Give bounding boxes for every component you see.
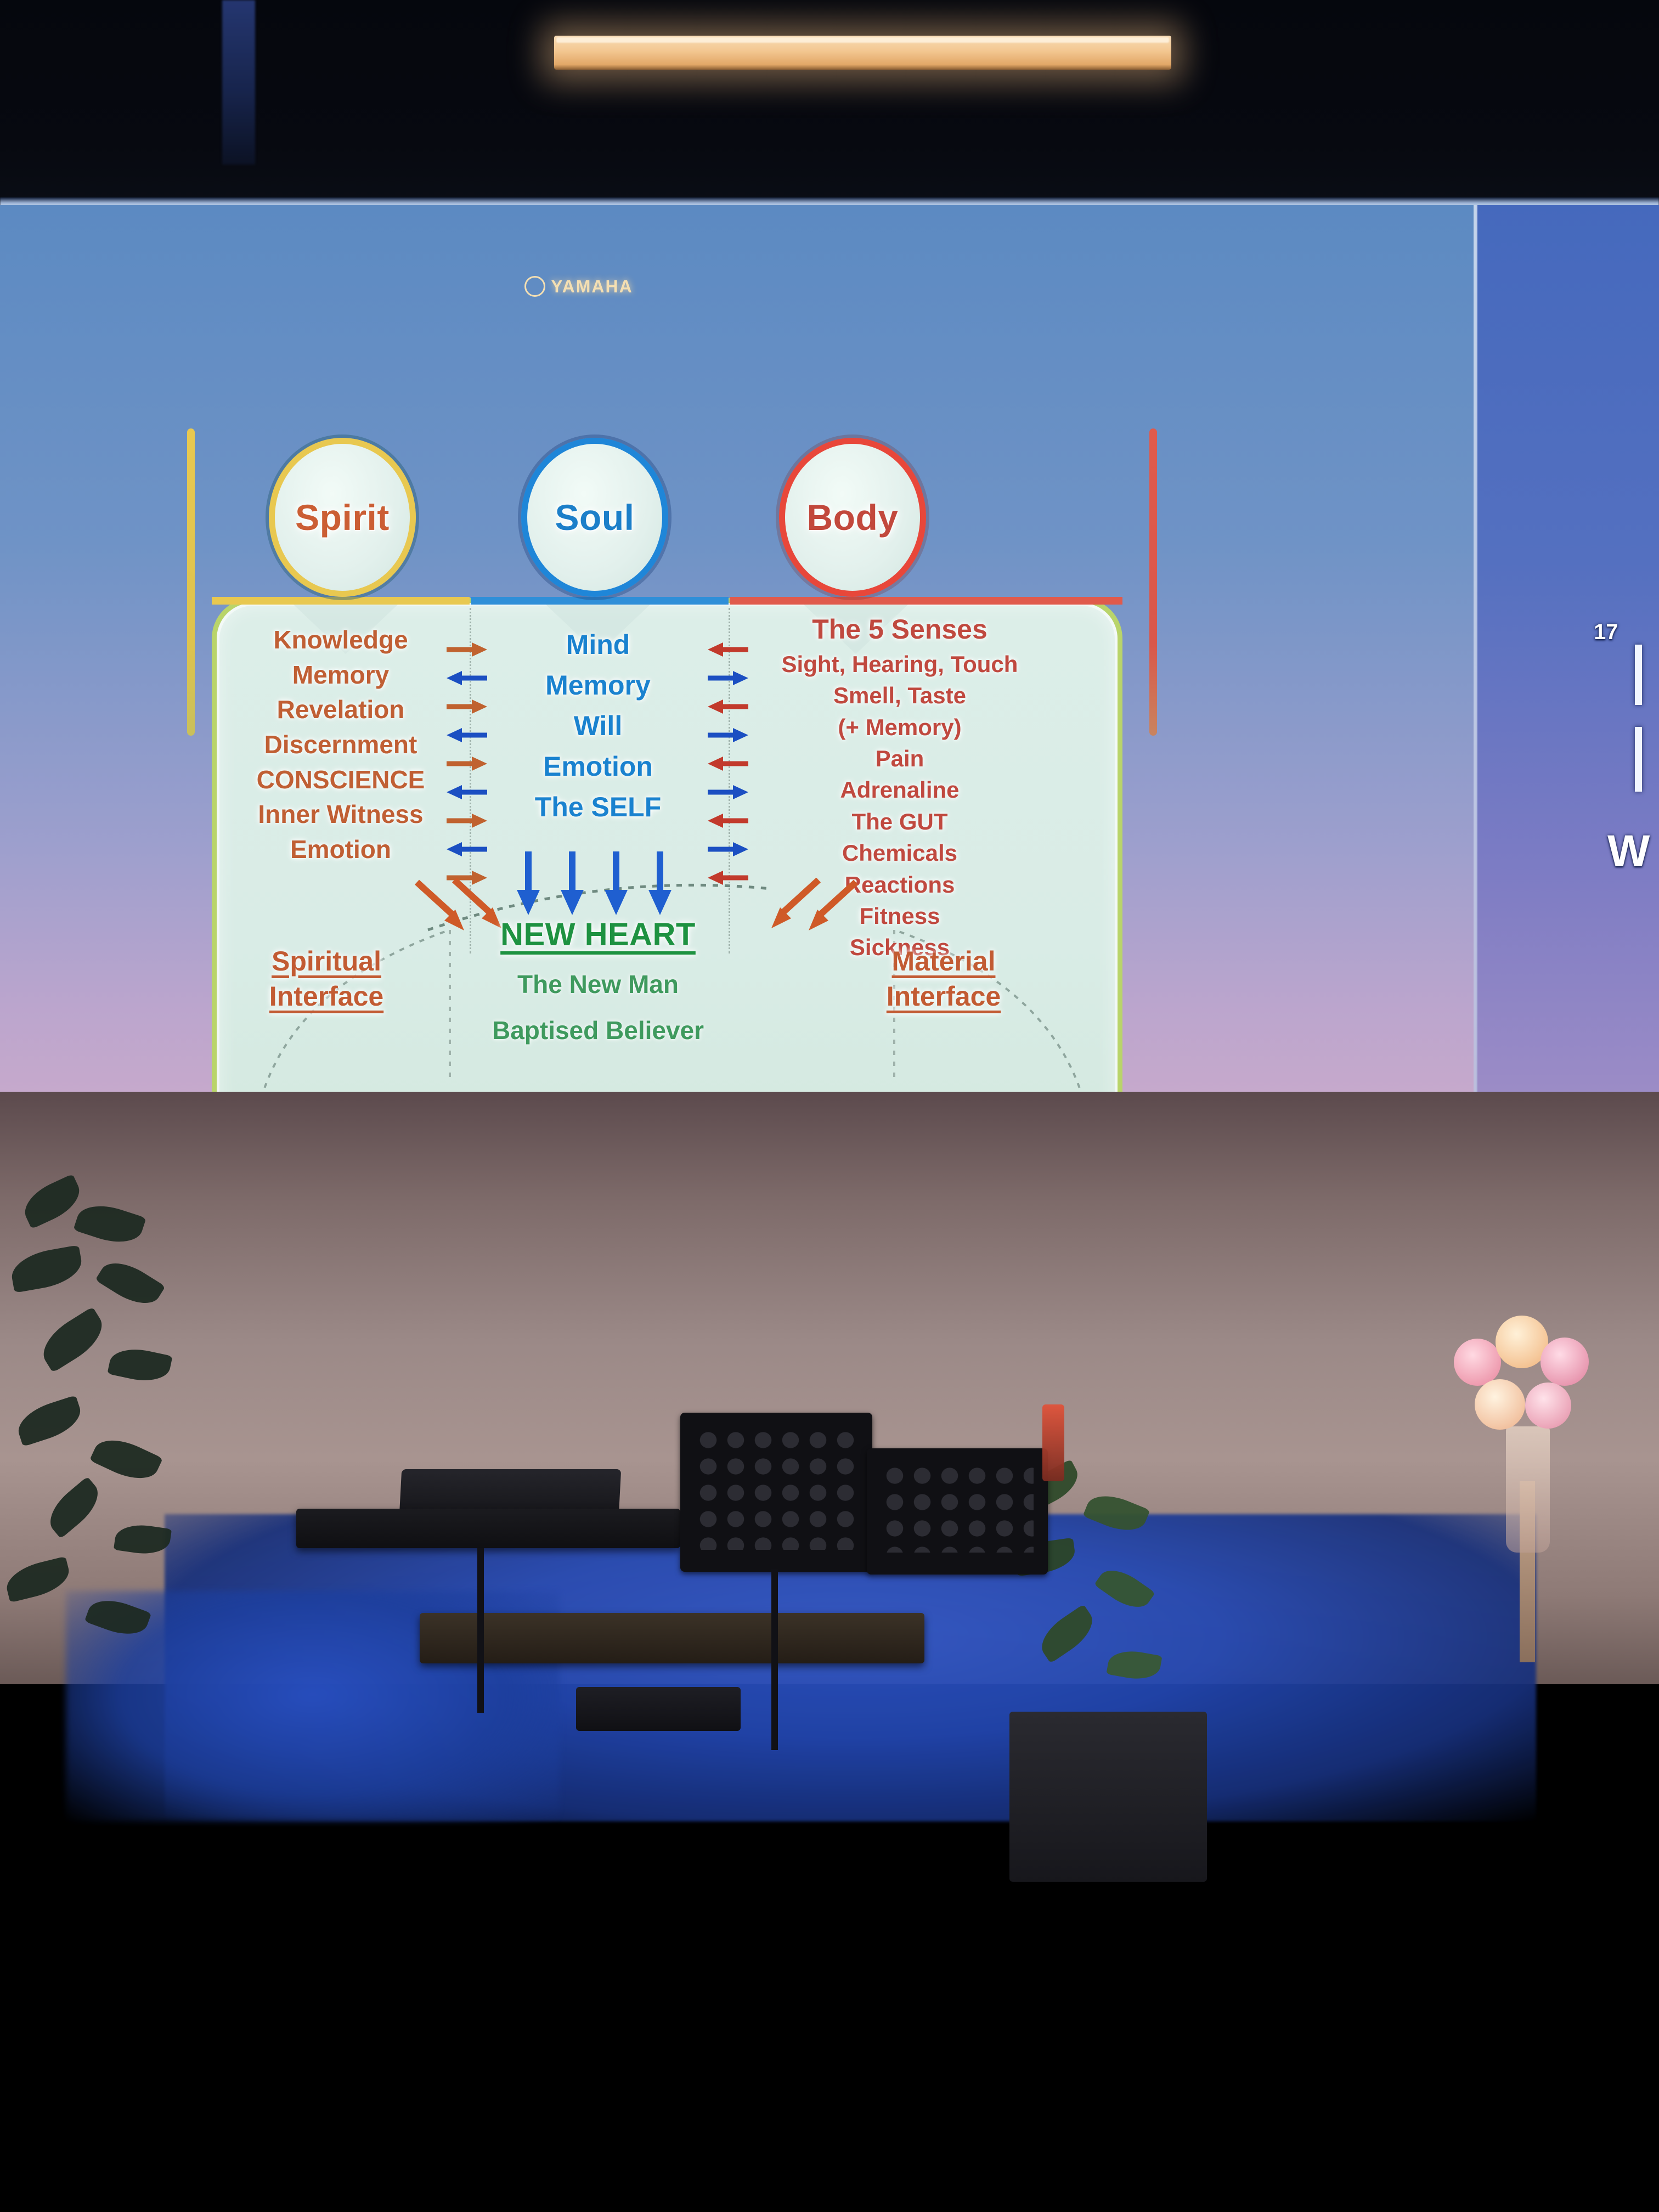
arrow-left-red	[707, 692, 749, 721]
arrow-left-red	[707, 749, 749, 778]
column-spirit: Knowledge Memory Revelation Discernment …	[223, 627, 459, 871]
arrow-right-orange	[445, 635, 488, 664]
body-item: Smell, Taste	[741, 683, 1059, 708]
body-item: Sight, Hearing, Touch	[741, 652, 1059, 676]
audience-area	[0, 1553, 1659, 2212]
arrow-left-blue	[445, 778, 488, 806]
trunk-left-accent	[187, 428, 195, 736]
body-item: Pain	[741, 746, 1059, 771]
new-heart-subtitle-2: Baptised Believer	[450, 1015, 746, 1045]
spirit-item: Memory	[223, 662, 459, 689]
secondary-screen-letter: W	[1607, 826, 1650, 877]
arrow-left-red	[707, 635, 749, 664]
new-heart-block: NEW HEART The New Man Baptised Believer	[450, 916, 746, 1045]
head-spirit: Spirit	[269, 438, 416, 597]
body-item: Chemicals	[741, 840, 1059, 865]
material-interface-line-1: Material	[828, 944, 1059, 979]
diagonal-arrows-right	[757, 878, 861, 952]
material-interface-line-2: Interface	[828, 979, 1059, 1014]
head-soul-label: Soul	[555, 496, 635, 538]
arrow-right-blue	[707, 721, 749, 749]
shoulder-body	[730, 597, 1122, 605]
keyboard-upper	[296, 1509, 680, 1548]
soul-item: Emotion	[483, 752, 713, 781]
spirit-item: Discernment	[223, 731, 459, 759]
soul-item: Mind	[483, 630, 713, 659]
arrow-right-blue	[707, 664, 749, 692]
yamaha-tuning-fork-icon	[524, 276, 545, 297]
body-item: Adrenaline	[741, 777, 1059, 802]
stage-speaker-marker	[1042, 1404, 1064, 1481]
arrow-right-blue	[707, 835, 749, 864]
down-arrow-icon	[560, 850, 585, 916]
soul-item: Memory	[483, 670, 713, 700]
spirit-item: Emotion	[223, 836, 459, 864]
down-arrows-to-heart	[516, 850, 673, 916]
spiritual-interface-label: Spiritual Interface	[219, 944, 433, 1014]
spiritual-interface-line-2: Interface	[219, 979, 433, 1014]
head-spirit-label: Spirit	[295, 496, 390, 538]
spiritual-interface-line-1: Spiritual	[219, 944, 433, 979]
ceiling-blue-strip	[222, 0, 255, 165]
arrow-right-orange	[445, 806, 488, 835]
arrows-soul-body	[707, 635, 749, 892]
new-heart-subtitle-1: The New Man	[450, 969, 746, 999]
spirit-item: Knowledge	[223, 627, 459, 654]
body-item: The GUT	[741, 809, 1059, 834]
arrow-left-red	[707, 864, 749, 892]
body-item: (+ Memory)	[741, 715, 1059, 740]
new-heart-title: NEW HEART	[450, 916, 746, 953]
soul-item: Will	[483, 711, 713, 741]
projection-screen: 17 W Spirit Soul Body	[0, 198, 1659, 1094]
flower-arrangement	[1448, 1306, 1607, 1503]
down-arrow-icon	[603, 850, 629, 916]
trunk-right-accent	[1149, 428, 1157, 736]
screen-secondary-panel	[1476, 205, 1659, 1094]
column-soul: Mind Memory Will Emotion The SELF	[483, 630, 713, 833]
shoulder-spirit	[212, 597, 470, 605]
music-stand-1	[680, 1413, 872, 1572]
secondary-screen-bar-2	[1635, 727, 1642, 792]
secondary-screen-bar-1	[1635, 645, 1642, 705]
yamaha-wordmark: YAMAHA	[551, 276, 633, 297]
arrows-spirit-soul	[445, 635, 488, 892]
body-heading: The 5 Senses	[741, 614, 1059, 644]
down-arrow-icon	[516, 850, 541, 916]
arrow-right-orange	[445, 692, 488, 721]
ceiling	[0, 0, 1659, 206]
arrow-right-orange	[445, 749, 488, 778]
yamaha-logo: YAMAHA	[516, 273, 642, 300]
shoulder-soul	[471, 597, 729, 605]
arrow-left-blue	[445, 835, 488, 864]
arrow-left-red	[707, 806, 749, 835]
screen-seam	[1474, 205, 1477, 1094]
soul-item: The SELF	[483, 792, 713, 822]
arrow-left-blue	[445, 721, 488, 749]
head-body-label: Body	[807, 496, 899, 538]
arrow-right-blue	[707, 778, 749, 806]
spirit-item: CONSCIENCE	[223, 766, 459, 794]
down-arrow-icon	[647, 850, 673, 916]
head-body: Body	[779, 438, 926, 597]
material-interface-label: Material Interface	[828, 944, 1059, 1014]
spirit-item: Inner Witness	[223, 801, 459, 828]
arrow-left-blue	[445, 664, 488, 692]
spirit-item: Revelation	[223, 696, 459, 724]
head-soul: Soul	[521, 438, 668, 597]
secondary-screen-number: 17	[1594, 620, 1618, 645]
ceiling-light-fixture	[554, 36, 1171, 70]
